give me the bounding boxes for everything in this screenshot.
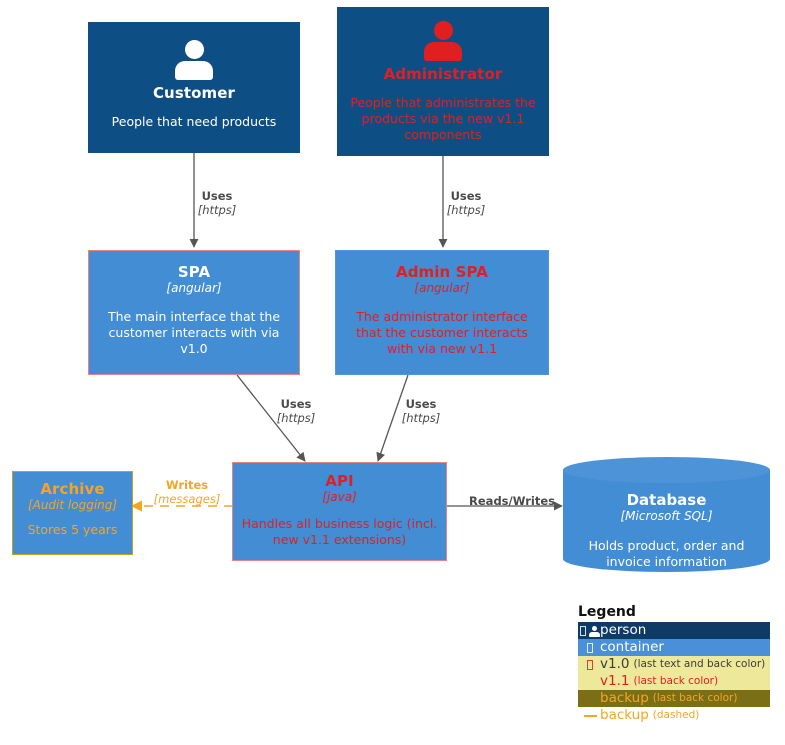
edge-label-tech: [https] [261, 411, 331, 425]
legend: Legend person container v1.0 (last text … [578, 604, 770, 724]
node-api-title: API [325, 472, 353, 490]
legend-row-person: person [578, 622, 770, 639]
legend-label: v1.0 [600, 657, 629, 672]
node-spa-title: SPA [178, 263, 210, 281]
legend-row-v11: v1.1 (last back color) [578, 673, 770, 690]
person-icon [421, 21, 465, 61]
node-database-title: Database [563, 491, 770, 509]
edge-label-adminspa-api: Uses [https] [386, 397, 456, 425]
legend-note: (dashed) [653, 708, 700, 723]
legend-label: person [600, 623, 646, 638]
node-administrator-title: Administrator [384, 65, 503, 83]
person-icon [172, 40, 216, 80]
node-archive-title: Archive [40, 480, 104, 498]
database-cylinder-top [563, 457, 770, 483]
legend-row-backup: backup (last back color) [578, 690, 770, 707]
node-api-tech: [java] [322, 490, 357, 504]
edge-label-customer-spa: Uses [https] [182, 189, 252, 217]
node-customer-description: People that need products [104, 114, 285, 130]
database-label-group: Database [Microsoft SQL] Holds product, … [563, 491, 770, 570]
node-customer-title: Customer [153, 84, 235, 102]
edge-label-tech: [https] [386, 411, 456, 425]
legend-label: container [600, 640, 664, 655]
legend-row-container: container [578, 639, 770, 656]
node-admin-spa-description: The administrator interface that the cus… [336, 309, 548, 357]
edge-label-text: Uses [431, 189, 501, 203]
tofu-icon [580, 659, 600, 671]
node-customer[interactable]: Customer People that need products [88, 22, 300, 153]
legend-note: (last back color) [653, 691, 738, 706]
edge-label-spa-api: Uses [https] [261, 397, 331, 425]
node-spa-description: The main interface that the customer int… [89, 309, 299, 357]
edge-label-tech: [https] [182, 203, 252, 217]
tofu-person-icon [580, 625, 600, 637]
legend-note: (last text and back color) [633, 657, 765, 672]
legend-label: backup [600, 691, 649, 706]
node-administrator-description: People that administrates the products v… [337, 95, 549, 143]
node-spa-tech: [angular] [166, 281, 221, 295]
node-database[interactable]: Database [Microsoft SQL] Holds product, … [563, 457, 770, 572]
node-api[interactable]: API [java] Handles all business logic (i… [232, 462, 447, 561]
edge-label-text: Reads/Writes [457, 494, 567, 508]
legend-row-v10: v1.0 (last text and back color) [578, 656, 770, 673]
legend-note: (last back color) [633, 674, 718, 689]
edge-label-text: Uses [261, 397, 331, 411]
tofu-icon [580, 642, 600, 654]
legend-label: v1.1 [600, 674, 629, 689]
legend-title: Legend [578, 604, 770, 620]
edge-label-api-database: Reads/Writes [457, 494, 567, 508]
legend-row-backup-dashed: backup (dashed) [578, 707, 770, 724]
node-database-tech: [Microsoft SQL] [563, 509, 770, 524]
legend-label: backup [600, 708, 649, 723]
node-archive-description: Stores 5 years [20, 522, 126, 538]
node-archive-tech: [Audit logging] [28, 498, 117, 512]
dash-icon [580, 710, 600, 722]
node-database-description: Holds product, order and invoice informa… [563, 538, 770, 570]
edge-label-text: Uses [182, 189, 252, 203]
node-administrator[interactable]: Administrator People that administrates … [337, 7, 549, 156]
node-admin-spa-title: Admin SPA [396, 263, 488, 281]
edge-label-tech: [https] [431, 203, 501, 217]
diagram-canvas: Customer People that need products Admin… [0, 0, 785, 745]
edge-label-text: Writes [142, 478, 232, 492]
edge-label-administrator-adminspa: Uses [https] [431, 189, 501, 217]
node-admin-spa[interactable]: Admin SPA [angular] The administrator in… [335, 250, 549, 375]
edge-label-api-archive: Writes [messages] [142, 478, 232, 506]
edge-label-text: Uses [386, 397, 456, 411]
node-api-description: Handles all business logic (incl. new v1… [233, 516, 446, 548]
edge-label-tech: [messages] [142, 492, 232, 506]
node-admin-spa-tech: [angular] [414, 281, 469, 295]
node-spa[interactable]: SPA [angular] The main interface that th… [88, 250, 300, 375]
node-archive[interactable]: Archive [Audit logging] Stores 5 years [12, 471, 133, 555]
